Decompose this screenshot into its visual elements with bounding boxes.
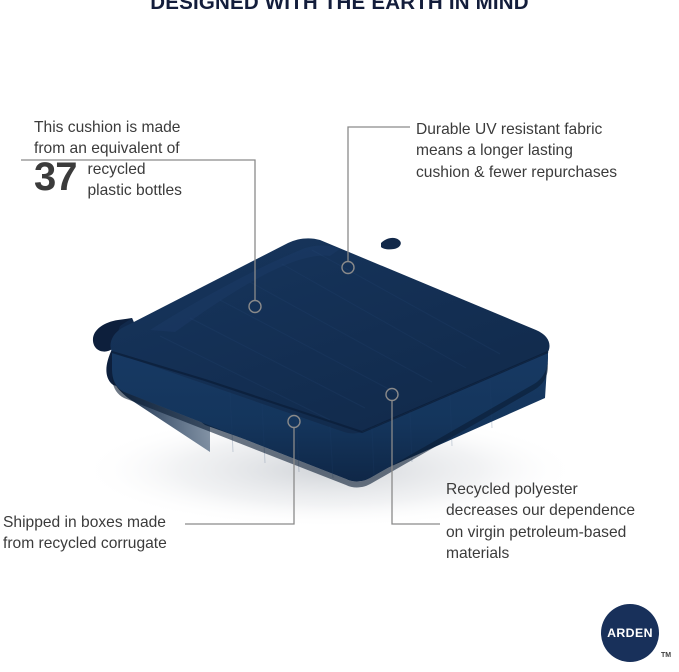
connector-polyester bbox=[392, 401, 440, 524]
connector-shipping bbox=[185, 428, 294, 524]
infographic-canvas: DESIGNED WITH THE EARTH IN MIND bbox=[0, 0, 679, 672]
callout-marker-bottom-right bbox=[386, 389, 398, 401]
connector-uv bbox=[348, 127, 410, 261]
callout-bottles-figure: 37 recycled plastic bottles bbox=[34, 157, 182, 202]
callout-bottles-intro: This cushion is made from an equivalent … bbox=[34, 117, 180, 160]
callout-uv-fabric: Durable UV resistant fabric means a long… bbox=[416, 119, 617, 183]
bottles-count-label: recycled plastic bottles bbox=[88, 157, 182, 202]
callout-shipping: Shipped in boxes made from recycled corr… bbox=[3, 512, 167, 555]
callout-recycled-polyester: Recycled polyester decreases our depende… bbox=[446, 479, 635, 565]
callout-marker-top-right bbox=[342, 262, 354, 274]
brand-logo: ARDEN bbox=[601, 604, 659, 662]
callout-marker-bottom-left bbox=[288, 416, 300, 428]
callout-connectors bbox=[0, 0, 679, 672]
brand-logo-text: ARDEN bbox=[607, 626, 653, 640]
callout-marker-top-left bbox=[249, 301, 261, 313]
trademark-symbol: TM bbox=[661, 652, 671, 659]
bottles-count: 37 bbox=[34, 157, 77, 197]
